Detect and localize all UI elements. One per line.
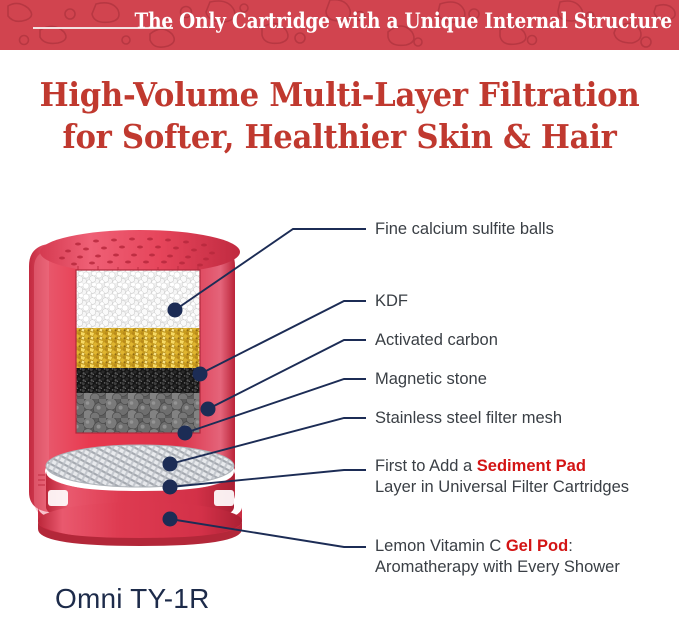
- leader-dot-activated-carbon: [201, 402, 216, 417]
- leader-dots: [163, 303, 216, 527]
- sediment-pad-prefix: First to Add a: [375, 457, 477, 475]
- gel-pod-prefix: Lemon Vitamin C: [375, 537, 506, 555]
- callout-label-fine-calcium-sulfite-balls: Fine calcium sulfite balls: [375, 219, 554, 240]
- leader-line-gel-pod: [170, 519, 366, 547]
- callout-leader-lines: [0, 0, 679, 623]
- callout-label-magnetic-stone: Magnetic stone: [375, 369, 487, 390]
- leader-line-kdf: [200, 301, 366, 374]
- callout-label-stainless-steel-filter-mesh: Stainless steel filter mesh: [375, 408, 562, 429]
- leader-line-fine-calcium-sulfite-balls: [175, 229, 366, 310]
- leader-dot-gel-pod: [163, 512, 178, 527]
- callout-label-sediment-pad: First to Add a Sediment Pad Layer in Uni…: [375, 456, 629, 498]
- leader-dot-stainless-steel-filter-mesh: [163, 457, 178, 472]
- leader-dot-fine-calcium-sulfite-balls: [168, 303, 183, 318]
- gel-pod-accent: Gel Pod: [506, 537, 568, 555]
- callout-label-gel-pod: Lemon Vitamin C Gel Pod: Aromatherapy wi…: [375, 536, 620, 578]
- callout-label-activated-carbon: Activated carbon: [375, 330, 498, 351]
- callout-label-kdf: KDF: [375, 291, 408, 312]
- leader-line-sediment-pad: [170, 470, 366, 487]
- product-name: Omni TY-1R: [55, 583, 210, 615]
- leader-line-stainless-steel-filter-mesh: [170, 418, 366, 464]
- leader-dot-sediment-pad: [163, 480, 178, 495]
- sediment-pad-line-1: First to Add a Sediment Pad: [375, 456, 629, 477]
- gel-pod-line-2: Aromatherapy with Every Shower: [375, 557, 620, 578]
- leader-dot-magnetic-stone: [178, 426, 193, 441]
- leader-dot-kdf: [193, 367, 208, 382]
- sediment-pad-accent: Sediment Pad: [477, 457, 586, 475]
- gel-pod-suffix: :: [568, 537, 573, 555]
- gel-pod-line-1: Lemon Vitamin C Gel Pod:: [375, 536, 620, 557]
- sediment-pad-line-2: Layer in Universal Filter Cartridges: [375, 477, 629, 498]
